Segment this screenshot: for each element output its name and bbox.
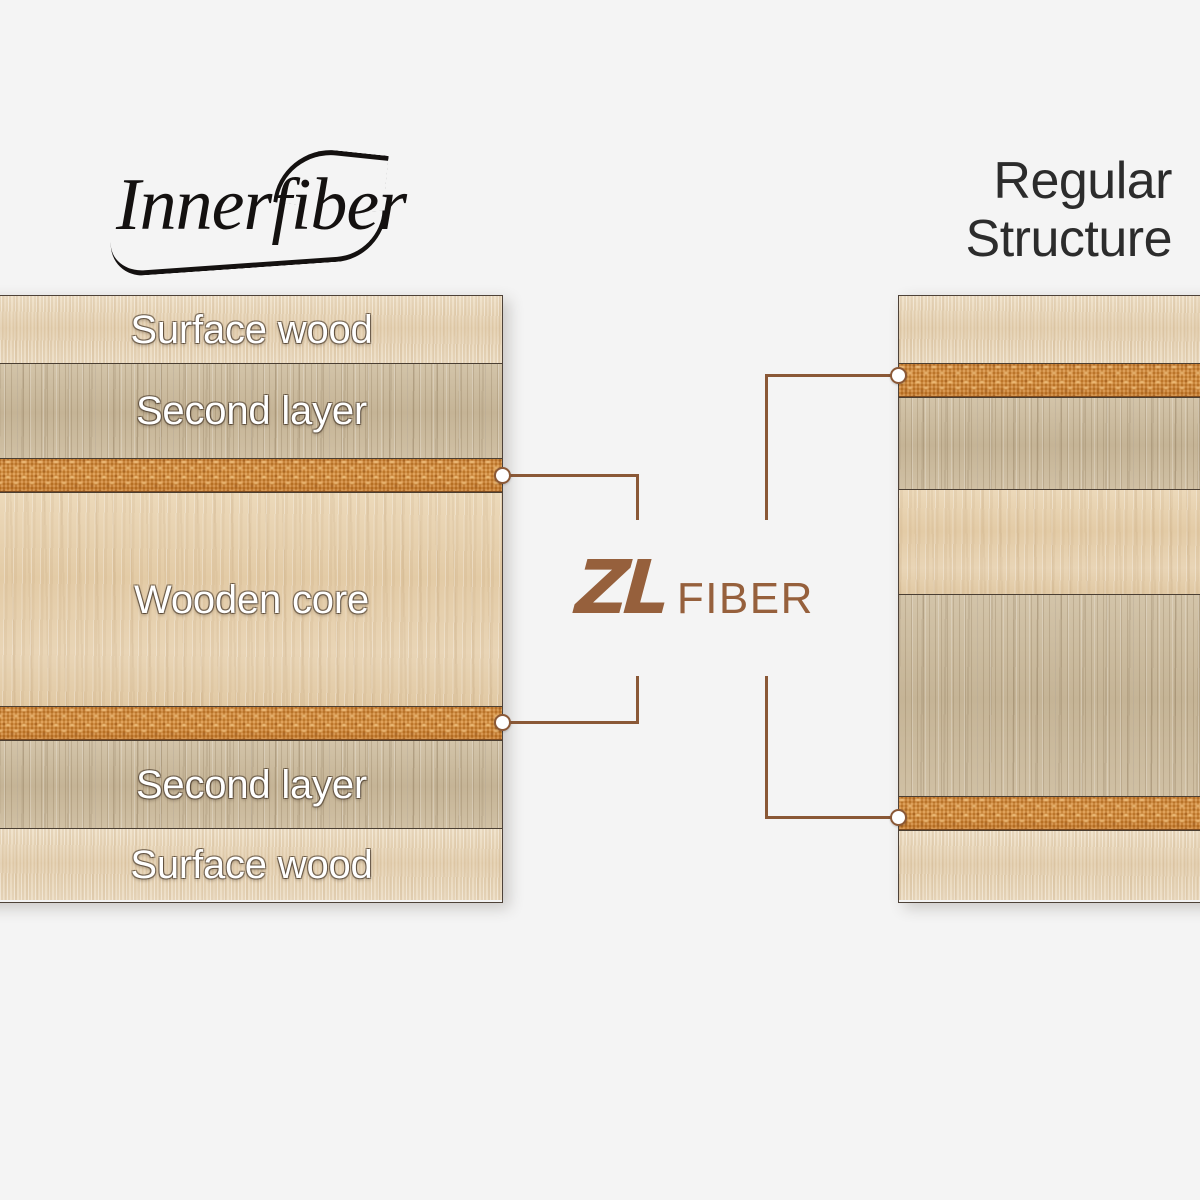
layer-zl-fiber-bottom bbox=[0, 706, 502, 740]
zl-fiber-logo-word: FIBER bbox=[677, 577, 814, 621]
layer-label-surface-wood-bottom: Surface wood bbox=[130, 845, 372, 885]
layer-right-zl-fiber-top bbox=[899, 363, 1200, 397]
layer-label-second-layer-top: Second layer bbox=[136, 391, 367, 431]
layer-label-second-layer-bottom: Second layer bbox=[136, 765, 367, 805]
layer-right-zl-fiber-bottom bbox=[899, 796, 1200, 830]
panel-innerfiber-structure: Surface wood Second layer Wooden core Se… bbox=[0, 295, 503, 903]
layer-right-core-lower bbox=[899, 594, 1200, 796]
connector-right-top-horizontal bbox=[765, 374, 902, 377]
connector-left-top-vertical bbox=[636, 474, 639, 520]
layer-right-core-upper bbox=[899, 489, 1200, 594]
layer-right-surface-wood-top bbox=[899, 296, 1200, 363]
connector-right-bottom-horizontal bbox=[765, 816, 902, 819]
layer-label-surface-wood-top: Surface wood bbox=[130, 310, 372, 350]
layer-second-layer-bottom: Second layer bbox=[0, 740, 502, 828]
layer-right-surface-wood-bottom bbox=[899, 830, 1200, 900]
panel-regular-structure bbox=[898, 295, 1200, 903]
layer-right-second-layer-top bbox=[899, 397, 1200, 489]
connector-right-top-vertical bbox=[765, 374, 768, 520]
layer-second-layer-top: Second layer bbox=[0, 363, 502, 458]
layer-surface-wood-top: Surface wood bbox=[0, 296, 502, 363]
connector-left-top-horizontal bbox=[502, 474, 639, 477]
layer-surface-wood-bottom: Surface wood bbox=[0, 828, 502, 900]
connector-left-bottom-vertical bbox=[636, 676, 639, 724]
zl-fiber-logo-mark: ZL bbox=[573, 551, 667, 625]
innerfiber-logo: Innerfiber bbox=[108, 146, 408, 266]
layer-wooden-core: Wooden core bbox=[0, 492, 502, 706]
layer-label-wooden-core: Wooden core bbox=[134, 580, 369, 620]
layer-zl-fiber-top bbox=[0, 458, 502, 492]
regular-structure-title: Regular Structure bbox=[752, 152, 1172, 268]
regular-structure-title-line2: Structure bbox=[752, 210, 1172, 268]
connector-right-bottom-vertical bbox=[765, 676, 768, 819]
zl-fiber-logo: ZL FIBER bbox=[576, 551, 846, 621]
regular-structure-title-line1: Regular bbox=[752, 152, 1172, 210]
connector-left-bottom-horizontal bbox=[502, 721, 639, 724]
diagram-canvas: Innerfiber Regular Structure Surface woo… bbox=[0, 0, 1200, 1200]
